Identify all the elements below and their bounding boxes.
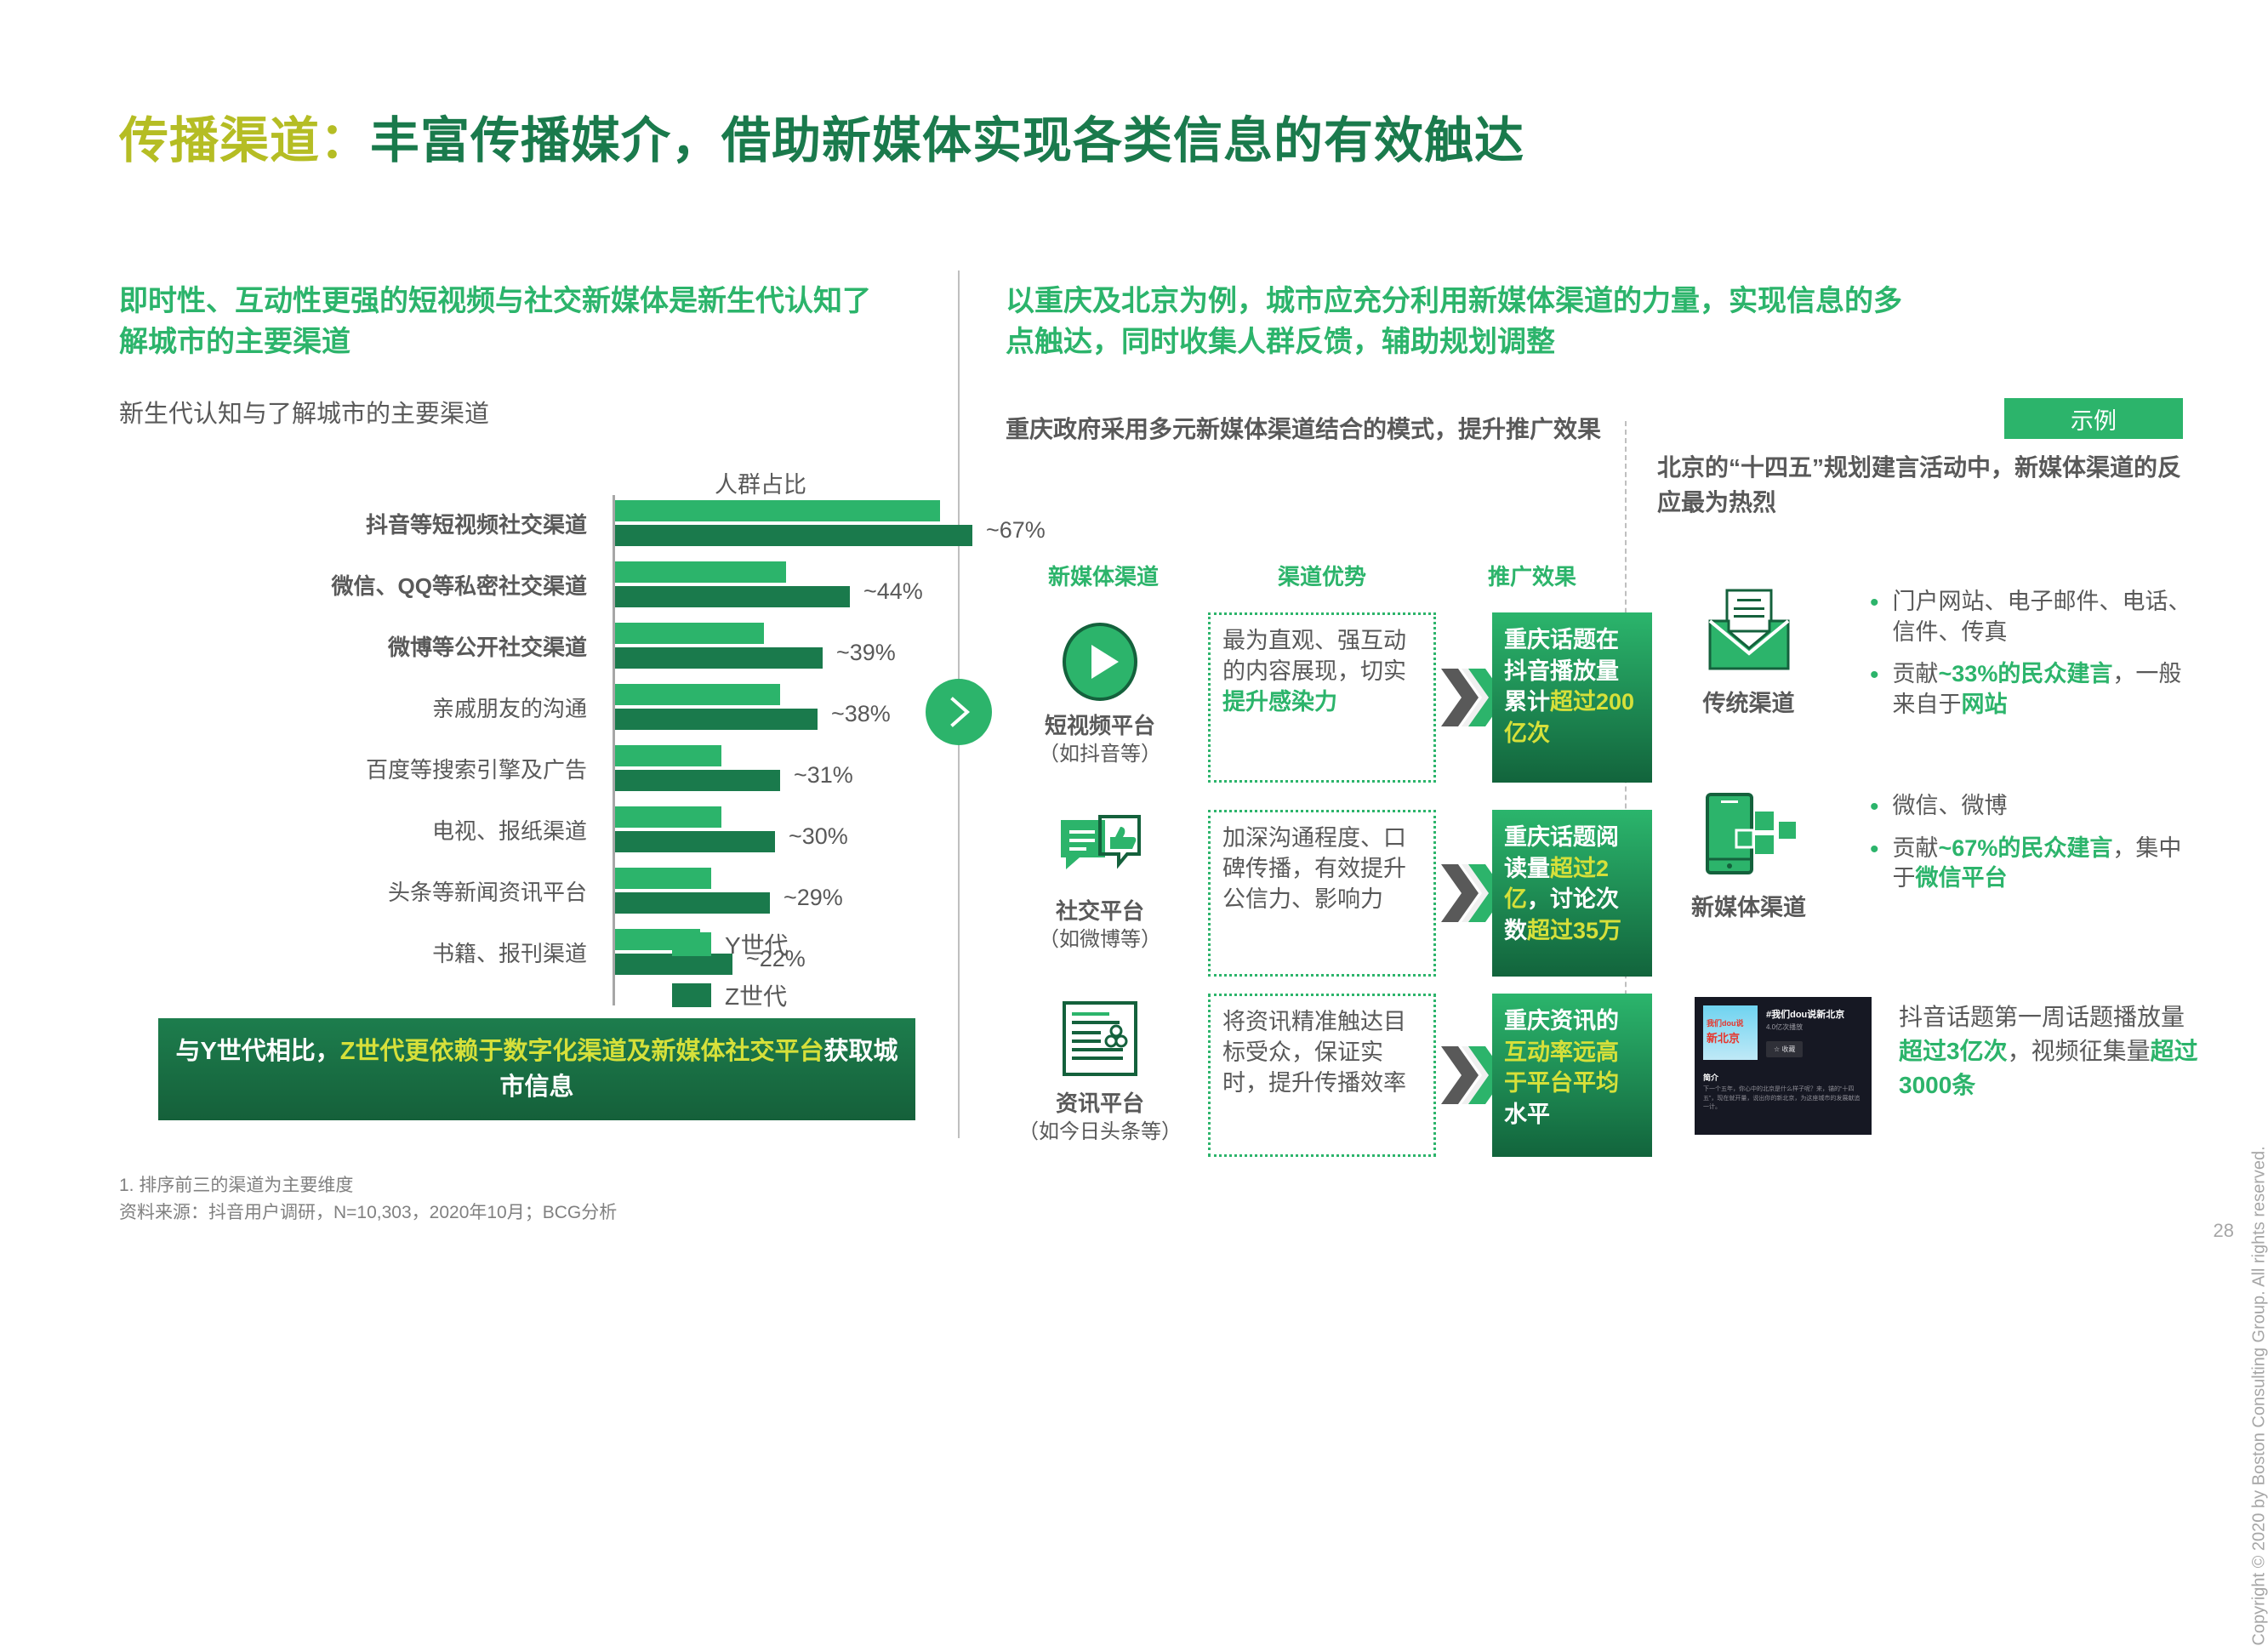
chart-category-label: 书籍、报刊渠道 (145, 937, 587, 968)
chart-bar-z (615, 709, 818, 730)
chart-category-label: 头条等新闻资讯平台 (145, 875, 587, 907)
right-bullet-0-part-0: 微信、微博 (1893, 793, 2008, 818)
chart-category-label: 电视、报纸渠道 (145, 814, 587, 846)
status-badge: 示例 (2004, 398, 2183, 439)
right-bullet-text: 贡献~33%的民众建言，一般来自于网站 (1893, 659, 2202, 720)
right-bullet: • 门户网站、电子邮件、电话、信件、传真 (1870, 587, 2202, 647)
chart-value-label: ~67% (986, 517, 1046, 544)
middle-headline: 以重庆及北京为例，城市应充分利用新媒体渠道的力量，实现信息的多点触达，同时收集人… (1006, 281, 1907, 363)
middle-column: 以重庆及北京为例，城市应充分利用新媒体渠道的力量，实现信息的多点触达，同时收集人… (1006, 281, 1924, 363)
smartphone-share-icon (1699, 791, 1799, 876)
chart-bar-y (615, 745, 721, 766)
news-article-icon (1060, 999, 1140, 1079)
envelope-mail-icon (1705, 587, 1793, 672)
chart-category-label: 抖音等短视频社交渠道 (145, 508, 587, 539)
right-bullet-1-part-3: 网站 (1962, 692, 2008, 717)
right-bullet-text: 门户网站、电子邮件、电话、信件、传真 (1893, 587, 2202, 647)
chart-value-label: ~29% (784, 885, 843, 911)
chart-bar-y (615, 868, 711, 889)
chart-bar-group (615, 745, 780, 791)
topic-title: #我们dou说新北京 (1766, 1007, 1844, 1021)
page-title: 传播渠道：丰富传播媒介，借助新媒体实现各类信息的有效触达 (119, 100, 1524, 172)
copyright-notice: Copyright © 2020 by Boston Consulting Gr… (2249, 1146, 2268, 1645)
callout-highlight: Z世代更依赖于数字化渠道及新媒体社交平台 (340, 1038, 824, 1065)
flow-channel-sublabel: （如微博等） (1006, 926, 1194, 953)
footnote-line-1: 1. 排序前三的渠道为主要维度 (119, 1172, 617, 1199)
right-bullet-0-part-0: 门户网站、电子邮件、电话、信件、传真 (1893, 589, 2191, 645)
flow-result-part-2: 水平 (1504, 1102, 1550, 1127)
flow-result-cell: 重庆资讯的互动率远高于平台平均水平 (1492, 994, 1652, 1157)
right-bullet-1-part-0: 贡献 (1893, 661, 1939, 686)
chart-category-label: 微信、QQ等私密社交渠道 (145, 569, 587, 601)
intro-body: 下一个五年，你心中的北京是什么样子呢？来，锚的“十四五”，现在就开量，说出你的新… (1703, 1085, 1863, 1113)
chart-row: 电视、报纸渠道~30% (119, 806, 919, 863)
chart-row: 百度等搜索引擎及广告~31% (119, 745, 919, 801)
flow-channel-cell: 资讯平台 （如今日头条等） (1006, 999, 1194, 1145)
right-channel-cell: 新媒体渠道 (1657, 791, 1840, 922)
chart-row: 亲戚朋友的沟通~38% (119, 684, 919, 740)
chart-bar-group (615, 623, 823, 669)
chevron-right-icon (926, 679, 992, 745)
chart-bar-z (615, 647, 823, 669)
left-callout-text: 与Y世代相比，Z世代更依赖于数字化渠道及新媒体社交平台获取城市信息 (158, 1034, 915, 1105)
footnote-line-2: 资料来源：抖音用户调研，N=10,303，2020年10月；BCG分析 (119, 1199, 617, 1227)
topic-cover-image: 我们dou说 新北京 (1703, 1005, 1758, 1060)
right-channel-label: 传统渠道 (1657, 685, 1840, 718)
thumb-text-part-0: 抖音话题第一周话题播放量 (1899, 1004, 2185, 1030)
chart-value-label: ~38% (831, 701, 891, 727)
chart-value-label: ~30% (789, 823, 848, 850)
flow-advantage-cell: 最为直观、强互动的内容展现，切实提升感染力 (1208, 612, 1436, 783)
flow-row: 社交平台 （如微博等） 加深沟通程度、口碑传播，有效提升公信力、影响力 重庆话题… (1006, 810, 1652, 977)
bullet-dot-icon: • (1870, 795, 1879, 822)
legend-item-y: Y世代 (672, 927, 789, 961)
flow-result-part-0: 重庆资讯的 (1504, 1008, 1619, 1034)
right-bullet-1-part-0: 贡献 (1893, 835, 1939, 861)
chart-bar-group (615, 868, 770, 914)
flow-result-cell: 重庆话题阅读量超过2亿，讨论次数超过35万 (1492, 810, 1652, 977)
right-bullet-text: 微信、微博 (1893, 791, 2008, 822)
chart-bar-y (615, 684, 780, 705)
bar-chart: 人群占比 抖音等短视频社交渠道~67%微信、QQ等私密社交渠道~44%微博等公开… (119, 466, 919, 1011)
chart-bar-z (615, 892, 770, 914)
page-title-accent: 传播渠道： (119, 113, 370, 168)
flow-channel-label: 社交平台 (1006, 897, 1194, 926)
chart-bar-group (615, 806, 775, 852)
flow-result-part-3: 超过35万 (1527, 918, 1621, 943)
douyin-topic-screenshot: 我们dou说 新北京 #我们dou说新北京 4.0亿次播放 ☆ 收藏 简介 下一… (1695, 997, 1872, 1135)
thumb-text-part-1: 超过3亿次 (1899, 1038, 2008, 1064)
bullet-dot-icon: • (1870, 837, 1879, 894)
right-bullet: • 微信、微博 (1870, 791, 2202, 822)
bullet-dot-icon: • (1870, 590, 1879, 647)
right-channel-cell: 传统渠道 (1657, 587, 1840, 718)
chart-category-label: 微博等公开社交渠道 (145, 630, 587, 662)
chart-category-label: 亲戚朋友的沟通 (145, 692, 587, 723)
legend-swatch-z (672, 983, 711, 1007)
chart-bar-y (615, 561, 786, 583)
chart-category-label: 百度等搜索引擎及广告 (145, 753, 587, 784)
chart-bar-group (615, 684, 818, 730)
legend-label-z: Z世代 (725, 978, 787, 1012)
flow-channel-sublabel: （如今日头条等） (1006, 1119, 1194, 1145)
left-subhead: 新生代认知与了解城市的主要渠道 (119, 394, 902, 430)
chart-bar-group (615, 500, 972, 546)
chart-value-label: ~31% (794, 762, 853, 789)
chart-row: 微信、QQ等私密社交渠道~44% (119, 561, 919, 618)
flow-advantage-cell: 加深沟通程度、口碑传播，有效提升公信力、影响力 (1208, 810, 1436, 977)
flow-channel-cell: 社交平台 （如微博等） (1006, 815, 1194, 953)
flow-header-result: 推广效果 (1434, 560, 1630, 591)
right-bullet-list: • 微信、微博 • 贡献~67%的民众建言，集中于微信平台 (1870, 791, 2202, 906)
chart-bar-group (615, 561, 850, 607)
right-bullet-1-part-1: ~67%的民众建言 (1939, 835, 2113, 861)
flow-result-cell: 重庆话题在抖音播放量累计超过200亿次 (1492, 612, 1652, 783)
right-bullet: • 贡献~67%的民众建言，集中于微信平台 (1870, 834, 2202, 894)
flow-channel-label: 短视频平台 (1006, 712, 1194, 741)
page-title-rest: 丰富传播媒介，借助新媒体实现各类信息的有效触达 (370, 113, 1524, 168)
footnote: 1. 排序前三的渠道为主要维度 资料来源：抖音用户调研，N=10,303，202… (119, 1172, 617, 1226)
chart-row: 抖音等短视频社交渠道~67% (119, 500, 919, 556)
chart-bar-z (615, 770, 780, 791)
flow-advantage-cell: 将资讯精准触达目标受众，保证实时，提升传播效率 (1208, 994, 1436, 1157)
flow-row: 短视频平台 （如抖音等） 最为直观、强互动的内容展现，切实提升感染力 重庆话题在… (1006, 612, 1652, 783)
right-subhead: 北京的“十四五”规划建言活动中，新媒体渠道的反应最为热烈 (1657, 451, 2202, 520)
chart-bar-z (615, 831, 775, 852)
chart-bar-z (615, 586, 850, 607)
chart-row: 书籍、报刊渠道~22% (119, 929, 919, 985)
right-channel-label: 新媒体渠道 (1657, 889, 1840, 922)
left-headline: 即时性、互动性更强的短视频与社交新媒体是新生代认知了解城市的主要渠道 (119, 281, 885, 363)
chart-bar-y (615, 806, 721, 828)
favorite-button[interactable]: ☆ 收藏 (1766, 1041, 1803, 1057)
cover-line-2: 新北京 (1707, 1029, 1740, 1045)
cover-line-1: 我们dou说 (1707, 1017, 1744, 1028)
flow-channel-label: 资讯平台 (1006, 1090, 1194, 1119)
left-callout-box: 与Y世代相比，Z世代更依赖于数字化渠道及新媒体社交平台获取城市信息 (158, 1018, 915, 1120)
chat-thumbsup-icon (1057, 815, 1143, 886)
page-number: 28 (2214, 1220, 2234, 1242)
legend-label-y: Y世代 (725, 927, 789, 961)
intro-heading: 简介 (1703, 1072, 1718, 1083)
legend-swatch-y (672, 932, 711, 956)
legend-item-z: Z世代 (672, 978, 789, 1012)
chart-axis-title: 人群占比 (715, 466, 806, 499)
flow-channel-sublabel: （如抖音等） (1006, 741, 1194, 767)
flow-channel-cell: 短视频平台 （如抖音等） (1006, 623, 1194, 767)
chart-bar-y (615, 623, 764, 644)
callout-prefix: 与Y世代相比， (175, 1038, 339, 1065)
play-circle-icon (1061, 623, 1139, 701)
chart-bar-y (615, 500, 940, 521)
flow-row: 资讯平台 （如今日头条等） 将资讯精准触达目标受众，保证实时，提升传播效率 重庆… (1006, 994, 1652, 1157)
bullet-dot-icon: • (1870, 663, 1879, 720)
thumb-text-part-2: ，视频征集量 (2008, 1038, 2151, 1064)
right-bullet: • 贡献~33%的民众建言，一般来自于网站 (1870, 659, 2202, 720)
chart-bar-z (615, 525, 972, 546)
right-bullet-1-part-1: ~33%的民众建言 (1939, 661, 2113, 686)
right-bullet-text: 贡献~67%的民众建言，集中于微信平台 (1893, 834, 2202, 894)
chart-value-label: ~44% (863, 578, 923, 605)
douyin-stats-text: 抖音话题第一周话题播放量超过3亿次，视频征集量超过3000条 (1899, 1000, 2205, 1102)
flow-result-part-1: 互动率远高于平台平均 (1504, 1039, 1619, 1096)
flow-header-channel: 新媒体渠道 (1006, 560, 1201, 591)
right-bullet-1-part-3: 微信平台 (1916, 865, 2008, 891)
chart-row: 微博等公开社交渠道~39% (119, 623, 919, 679)
slide-root: 传播渠道：丰富传播媒介，借助新媒体实现各类信息的有效触达 即时性、互动性更强的短… (0, 0, 2268, 1276)
right-bullet-list: • 门户网站、电子邮件、电话、信件、传真 • 贡献~33%的民众建言，一般来自于… (1870, 587, 2202, 732)
topic-play-count: 4.0亿次播放 (1766, 1022, 1803, 1032)
flow-header-advantage: 渠道优势 (1220, 560, 1424, 591)
chart-legend: Y世代 Z世代 (672, 927, 789, 1029)
chart-row: 头条等新闻资讯平台~29% (119, 868, 919, 924)
left-column: 即时性、互动性更强的短视频与社交新媒体是新生代认知了解城市的主要渠道 新生代认知… (119, 281, 902, 430)
chart-value-label: ~39% (836, 640, 896, 666)
middle-subhead: 重庆政府采用多元新媒体渠道结合的模式，提升推广效果 (1006, 413, 1652, 447)
